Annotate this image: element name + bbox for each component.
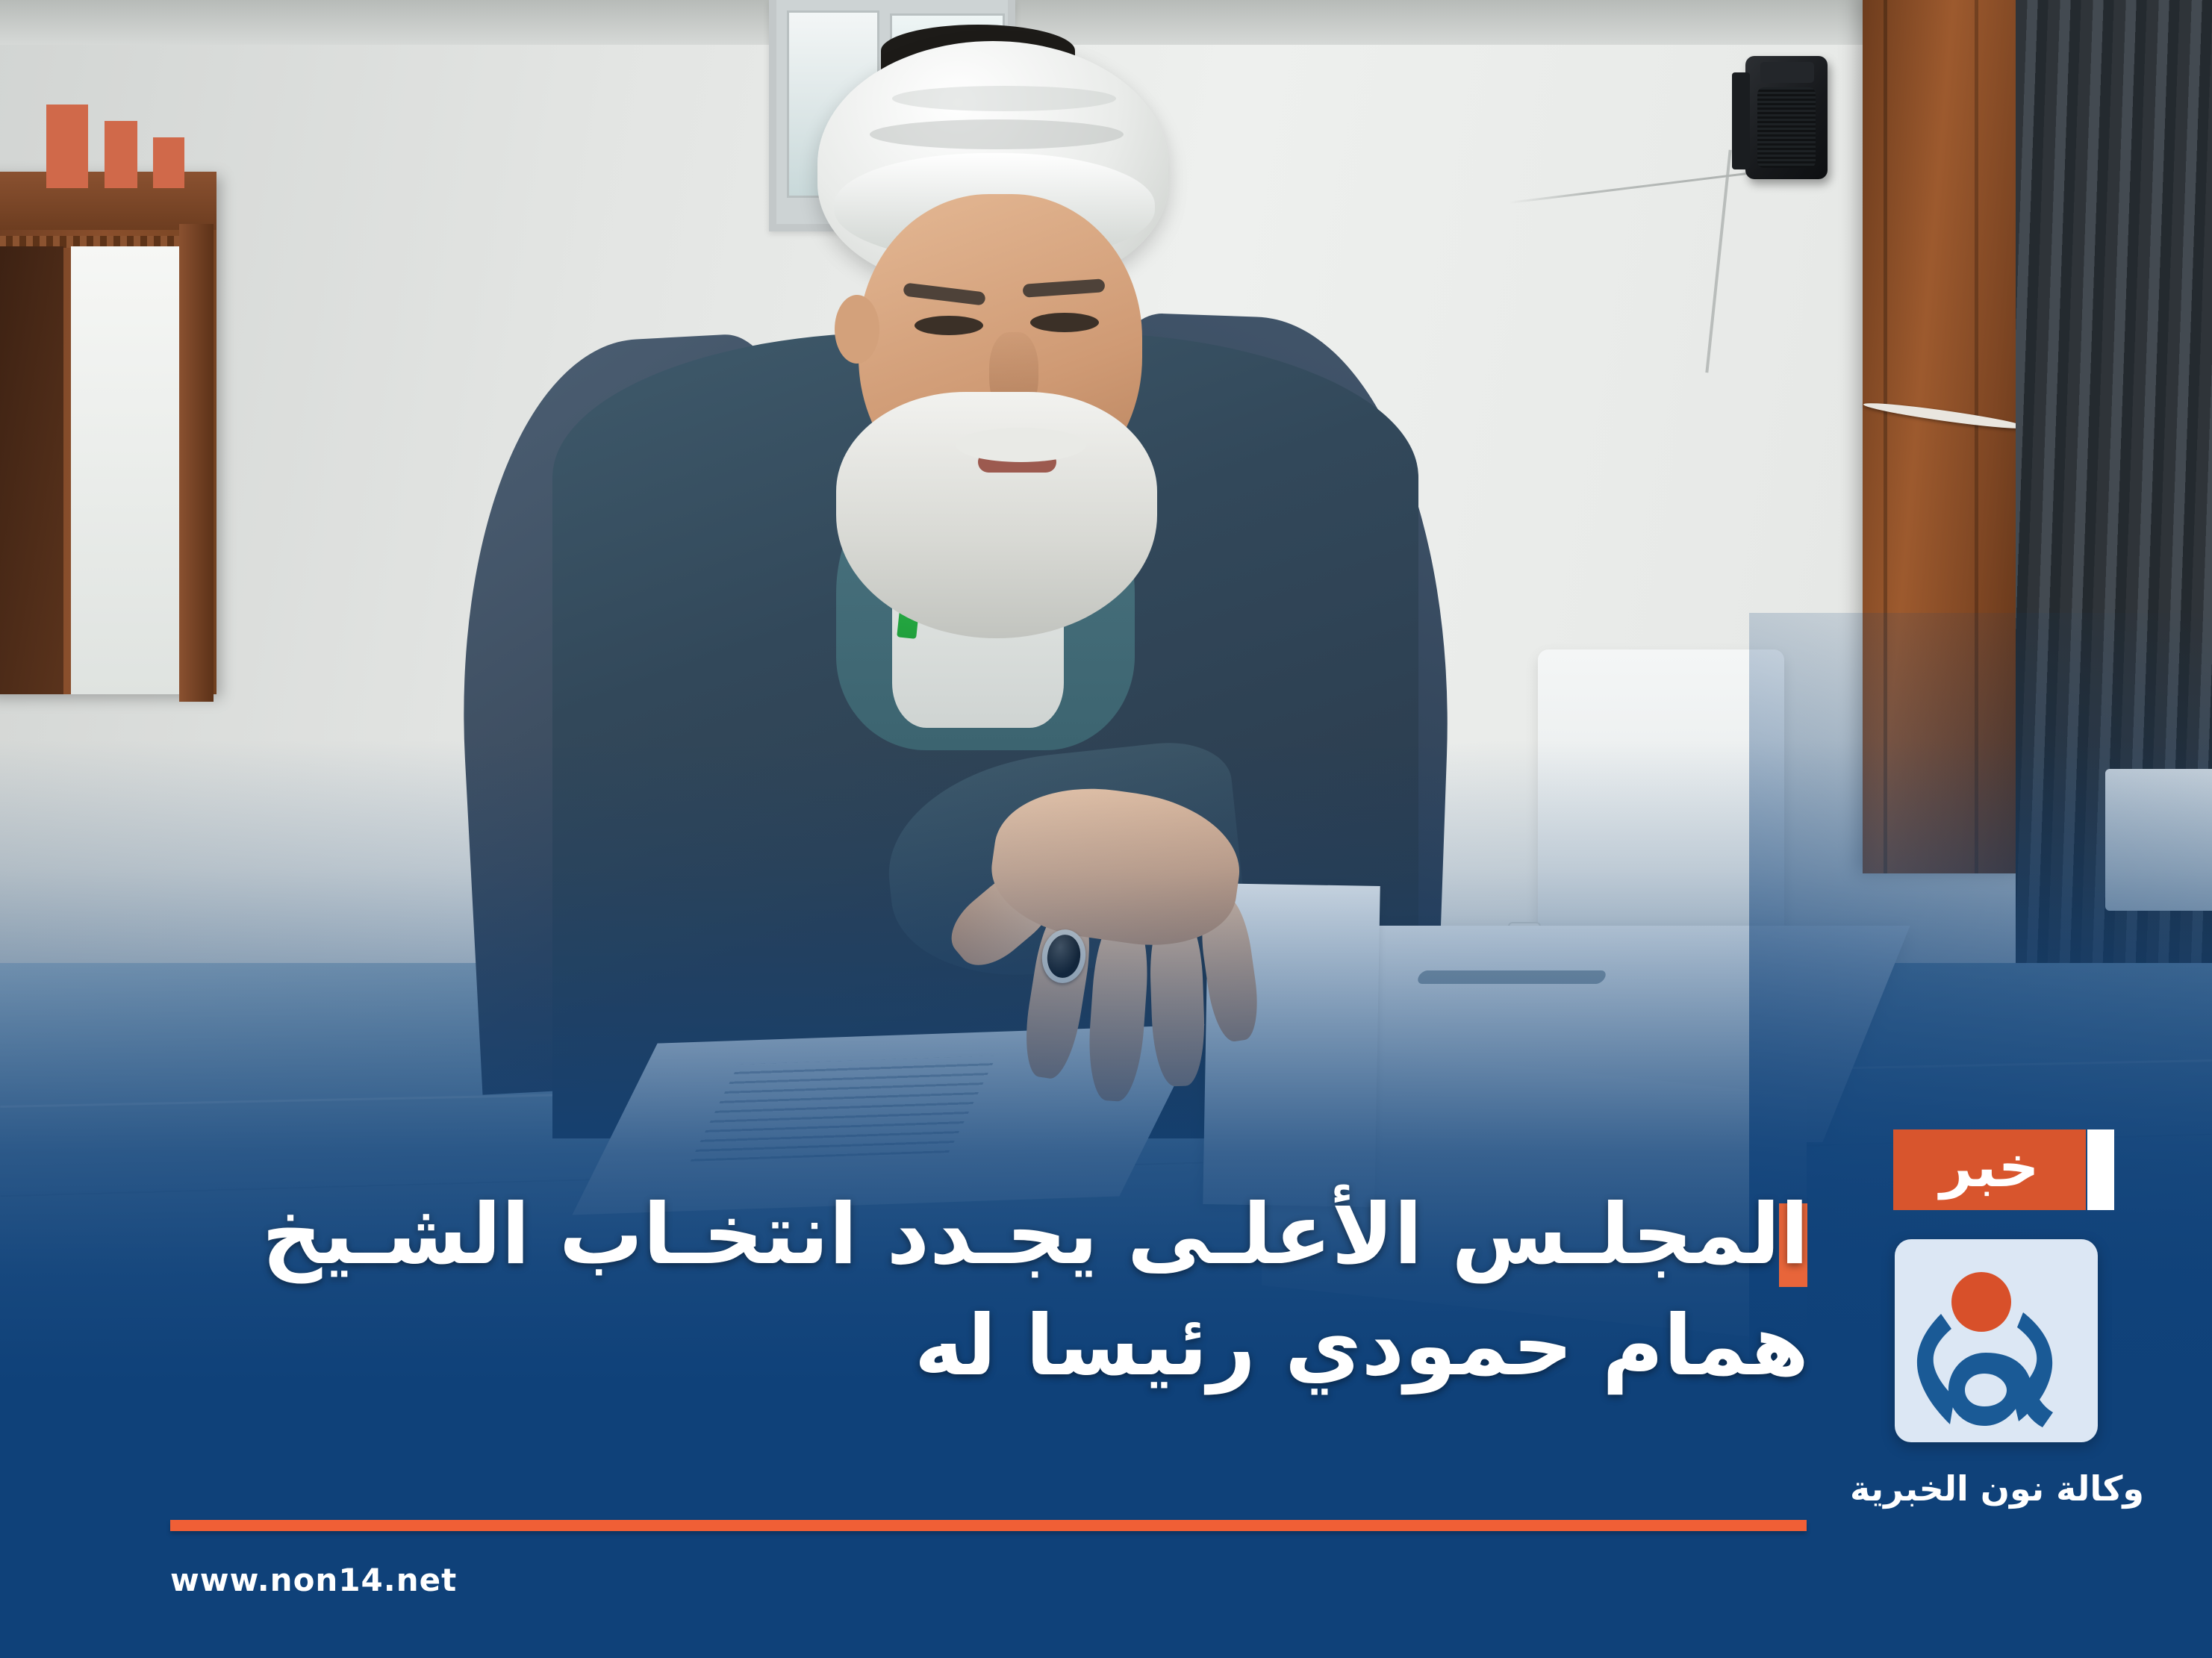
footer-divider — [170, 1520, 1807, 1531]
news-badge: خبر — [1893, 1129, 2086, 1210]
door-leaf — [0, 246, 63, 694]
news-card: المجلـس الأعلـى يجـدد انتخـاب الشـيخ هما… — [0, 0, 2212, 1658]
news-badge-label: خبر — [1940, 1138, 2039, 1195]
headline-line-2: همام حمودي رئيسا له — [127, 1291, 1809, 1402]
wall-speaker — [1745, 56, 1828, 179]
bar-1-icon — [46, 105, 88, 188]
bar-3-icon — [153, 137, 184, 188]
door-jamb — [179, 224, 214, 702]
door-opening — [71, 246, 179, 694]
agency-logo — [1895, 1239, 2098, 1442]
website-url[interactable]: www.non14.net — [170, 1562, 457, 1598]
headline: المجلـس الأعلـى يجـدد انتخـاب الشـيخ هما… — [127, 1179, 1809, 1402]
logo-left-arm-icon — [1917, 1314, 1954, 1424]
three-bars-logo-icon — [46, 99, 196, 188]
news-badge-tick — [2087, 1129, 2114, 1210]
bar-2-icon — [105, 121, 137, 188]
logo-head-dot-icon — [1951, 1272, 2011, 1332]
news-photo — [0, 0, 2212, 1658]
agency-name: وكالة نون الخبرية — [1836, 1468, 2158, 1509]
headline-line-1: المجلـس الأعلـى يجـدد انتخـاب الشـيخ — [127, 1179, 1809, 1291]
